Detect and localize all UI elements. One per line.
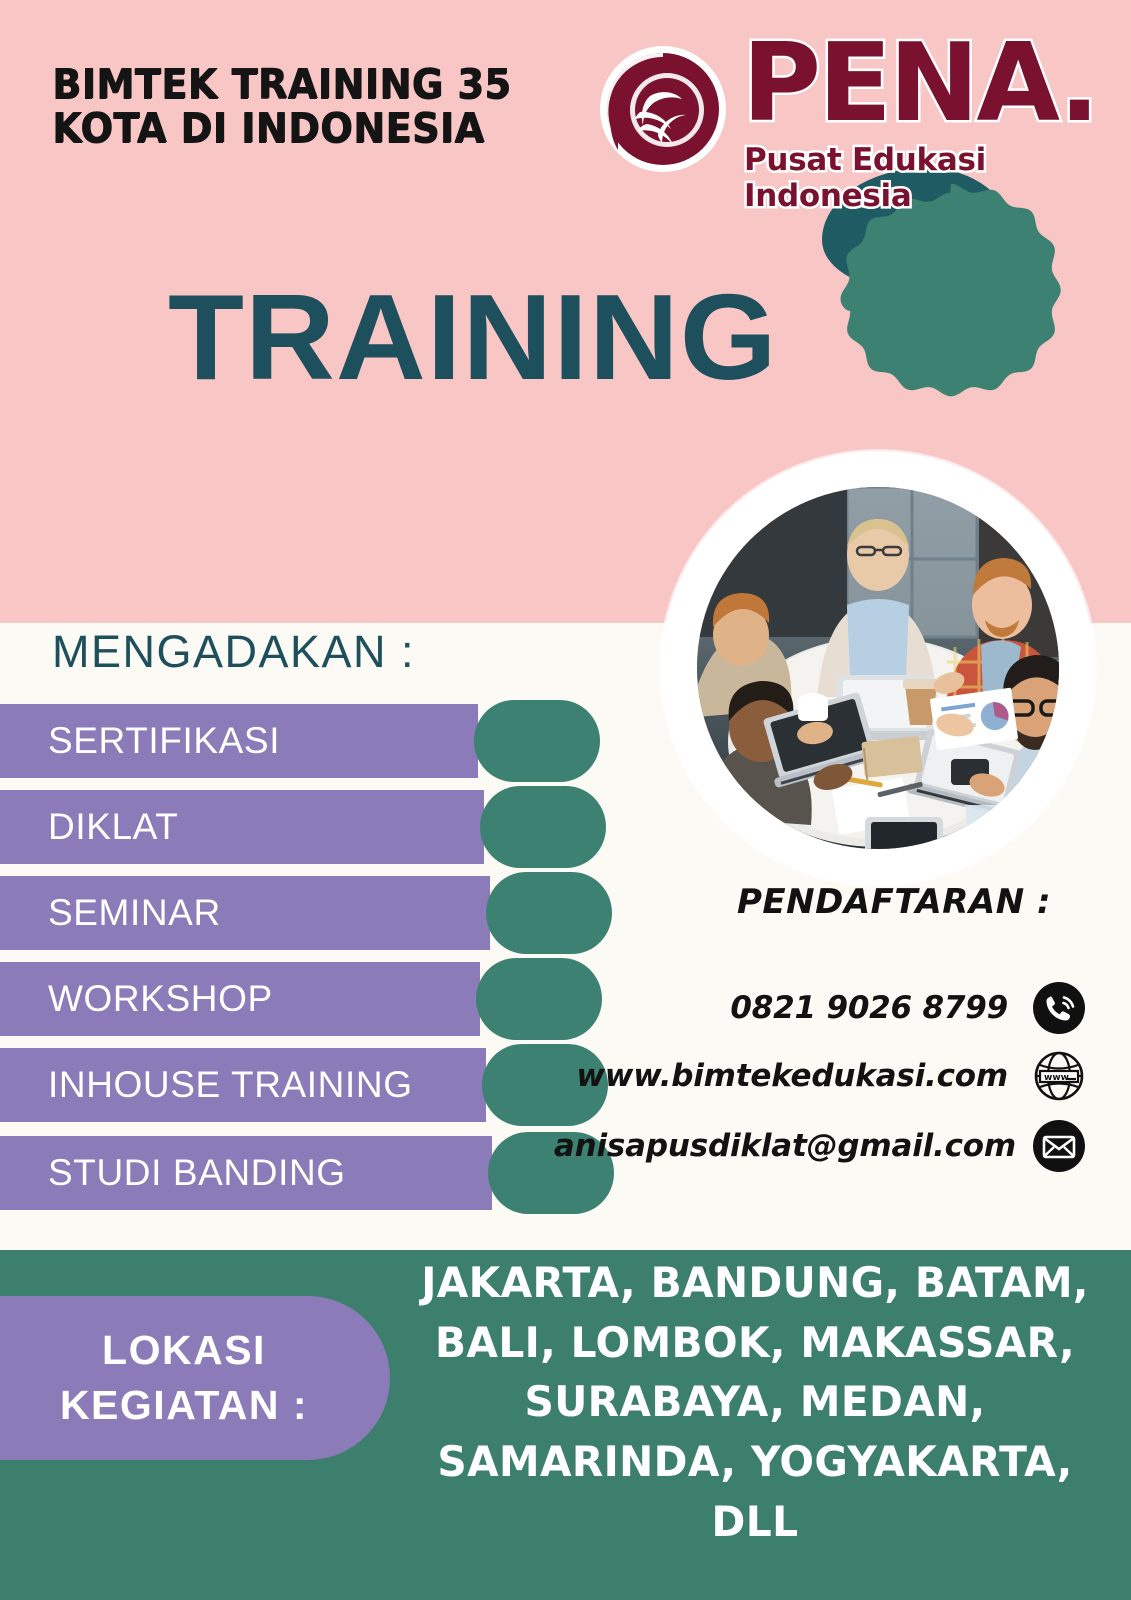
service-item-label: STUDI BANDING	[48, 1136, 346, 1210]
service-item-label: WORKSHOP	[48, 962, 273, 1036]
service-item-capsule	[480, 786, 606, 868]
logo-tagline: Pusat Edukasi Indonesia	[744, 142, 1092, 214]
pena-logo: PENA. Pusat Edukasi Indonesia	[592, 36, 1092, 184]
logo-wordmark-text: PENA	[742, 21, 1059, 146]
green-scalloped-blob-shape	[828, 180, 1074, 418]
business-team-meeting-photo	[697, 487, 1059, 849]
contact-text: anisapusdiklat@gmail.com	[554, 1118, 1016, 1174]
service-item-label: DIKLAT	[48, 790, 178, 864]
cities-list: JAKARTA, BANDUNG, BATAM,BALI, LOMBOK, MA…	[406, 1253, 1104, 1551]
contact-row[interactable]: anisapusdiklat@gmail.com	[560, 1118, 1016, 1174]
logo-wordmark-dot: .	[1059, 21, 1097, 146]
cities-line: SAMARINDA, YOGYAKARTA,	[406, 1432, 1104, 1492]
service-item-label: SERTIFIKASI	[48, 704, 280, 778]
logo-wordmark: PENA.	[742, 30, 1097, 138]
envelope-icon[interactable]	[1033, 1120, 1085, 1172]
contact-text: 0821 9026 8799	[730, 980, 1008, 1036]
promotional-poster: BIMTEK TRAINING 35 KOTA DI INDONESIA P	[0, 0, 1131, 1600]
headline-line-1: BIMTEK TRAINING 35	[52, 62, 536, 106]
contact-row[interactable]: www.bimtekedukasi.com	[560, 1048, 1008, 1104]
main-title: TRAINING	[168, 276, 778, 398]
pena-feather-emblem-icon	[592, 38, 734, 180]
phone-icon[interactable]	[1033, 982, 1085, 1034]
cities-line: BALI, LOMBOK, MAKASSAR,	[406, 1313, 1104, 1373]
service-item-label: INHOUSE TRAINING	[48, 1048, 413, 1122]
registration-heading: PENDAFTARAN :	[737, 882, 1051, 922]
location-label-line-2: KEGIATAN :	[60, 1378, 308, 1433]
contact-text: www.bimtekedukasi.com	[576, 1048, 1008, 1104]
cities-line: SURABAYA, MEDAN,	[406, 1372, 1104, 1432]
page-title: BIMTEK TRAINING 35 KOTA DI INDONESIA	[52, 62, 536, 151]
service-item-capsule	[474, 700, 600, 782]
cities-line: JAKARTA, BANDUNG, BATAM,	[406, 1253, 1104, 1313]
cities-line: DLL	[406, 1492, 1104, 1552]
service-item-label: SEMINAR	[48, 876, 221, 950]
service-item-capsule	[486, 872, 612, 954]
globe-www-icon[interactable]: www.	[1033, 1050, 1085, 1102]
services-heading: MENGADAKAN :	[52, 626, 415, 678]
headline-line-2: KOTA DI INDONESIA	[52, 106, 536, 150]
location-label-line-1: LOKASI	[102, 1323, 266, 1378]
contact-row[interactable]: 0821 9026 8799	[560, 980, 1008, 1036]
photo-circle-frame	[661, 451, 1095, 885]
location-label: LOKASI KEGIATAN :	[0, 1296, 368, 1460]
